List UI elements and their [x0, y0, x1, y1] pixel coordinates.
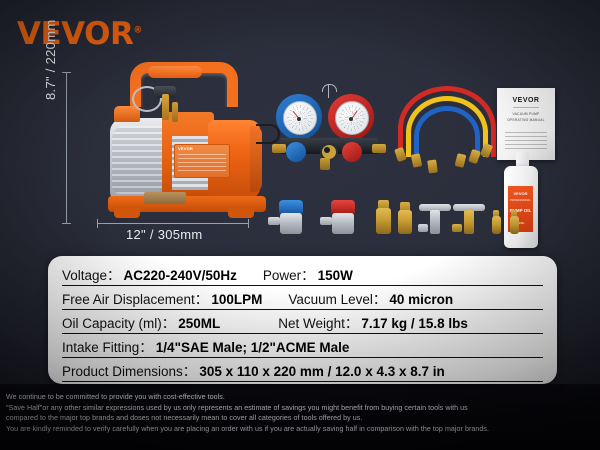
vignette-overlay	[0, 0, 600, 450]
product-image-canvas: VEVOR® 8.7" / 220mm 12" / 305mm VEVOR	[0, 0, 600, 450]
